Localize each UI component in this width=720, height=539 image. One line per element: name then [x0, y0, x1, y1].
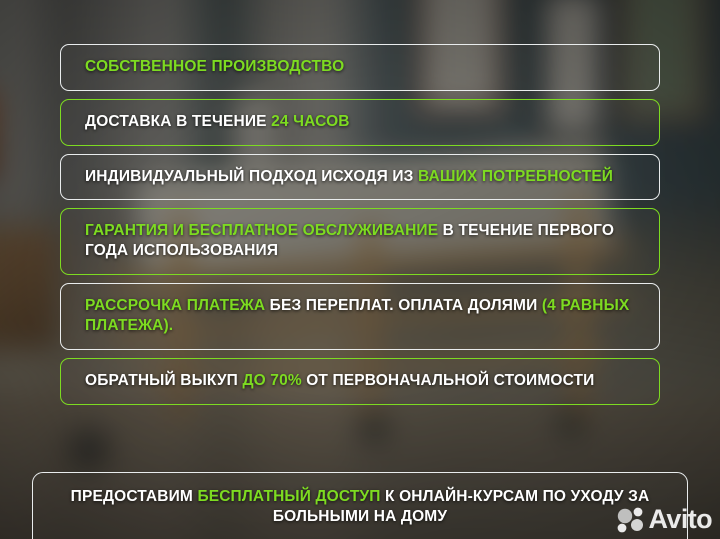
- card-text: ИНДИВИДУАЛЬНЫЙ ПОДХОД ИСХОДЯ ИЗ ВАШИХ ПО…: [85, 167, 635, 187]
- plain-text: БЕЗ ПЕРЕПЛАТ. ОПЛАТА ДОЛЯМИ: [265, 297, 542, 314]
- plain-text: ИНДИВИДУАЛЬНЫЙ ПОДХОД ИСХОДЯ ИЗ: [85, 168, 418, 185]
- highlighted-text: ГАРАНТИЯ И БЕСПЛАТНОЕ ОБСЛУЖИВАНИЕ: [85, 222, 438, 239]
- plain-text: ОБРАТНЫЙ ВЫКУП: [85, 372, 242, 389]
- card-buyback: ОБРАТНЫЙ ВЫКУП ДО 70% ОТ ПЕРВОНАЧАЛЬНОЙ …: [60, 358, 660, 405]
- feature-card-list: СОБСТВЕННОЕ ПРОИЗВОДСТВОДОСТАВКА В ТЕЧЕН…: [0, 0, 720, 539]
- card-text: ОБРАТНЫЙ ВЫКУП ДО 70% ОТ ПЕРВОНАЧАЛЬНОЙ …: [85, 371, 635, 391]
- card-own-production: СОБСТВЕННОЕ ПРОИЗВОДСТВО: [60, 44, 660, 91]
- highlighted-text: РАССРОЧКА ПЛАТЕЖА: [85, 297, 265, 314]
- card-online-courses: ПРЕДОСТАВИМ БЕСПЛАТНЫЙ ДОСТУП К ОНЛАЙН-К…: [32, 472, 688, 539]
- plain-text: ОТ ПЕРВОНАЧАЛЬНОЙ СТОИМОСТИ: [302, 372, 595, 389]
- highlighted-text: ДО 70%: [242, 372, 301, 389]
- plain-text: ДОСТАВКА В ТЕЧЕНИЕ: [85, 113, 271, 130]
- highlighted-text: ВАШИХ ПОТРЕБНОСТЕЙ: [418, 168, 613, 185]
- card-installment: РАССРОЧКА ПЛАТЕЖА БЕЗ ПЕРЕПЛАТ. ОПЛАТА Д…: [60, 283, 660, 350]
- highlighted-text: 24 ЧАСОВ: [271, 113, 350, 130]
- card-warranty: ГАРАНТИЯ И БЕСПЛАТНОЕ ОБСЛУЖИВАНИЕ В ТЕЧ…: [60, 208, 660, 275]
- avito-watermark: Avito: [617, 506, 713, 533]
- highlighted-text: СОБСТВЕННОЕ ПРОИЗВОДСТВО: [85, 58, 344, 75]
- card-delivery: ДОСТАВКА В ТЕЧЕНИЕ 24 ЧАСОВ: [60, 99, 660, 146]
- card-text: ПРЕДОСТАВИМ БЕСПЛАТНЫЙ ДОСТУП К ОНЛАЙН-К…: [53, 487, 667, 527]
- highlighted-text: БЕСПЛАТНЫЙ ДОСТУП: [197, 488, 380, 505]
- avito-dots-icon: [617, 507, 645, 533]
- card-text: ДОСТАВКА В ТЕЧЕНИЕ 24 ЧАСОВ: [85, 112, 635, 132]
- card-text: СОБСТВЕННОЕ ПРОИЗВОДСТВО: [85, 57, 635, 77]
- avito-wordmark: Avito: [649, 506, 713, 533]
- card-text: РАССРОЧКА ПЛАТЕЖА БЕЗ ПЕРЕПЛАТ. ОПЛАТА Д…: [85, 296, 635, 336]
- plain-text: ПРЕДОСТАВИМ: [71, 488, 198, 505]
- card-individual-approach: ИНДИВИДУАЛЬНЫЙ ПОДХОД ИСХОДЯ ИЗ ВАШИХ ПО…: [60, 154, 660, 201]
- promo-image: СОБСТВЕННОЕ ПРОИЗВОДСТВОДОСТАВКА В ТЕЧЕН…: [0, 0, 720, 539]
- card-text: ГАРАНТИЯ И БЕСПЛАТНОЕ ОБСЛУЖИВАНИЕ В ТЕЧ…: [85, 221, 635, 261]
